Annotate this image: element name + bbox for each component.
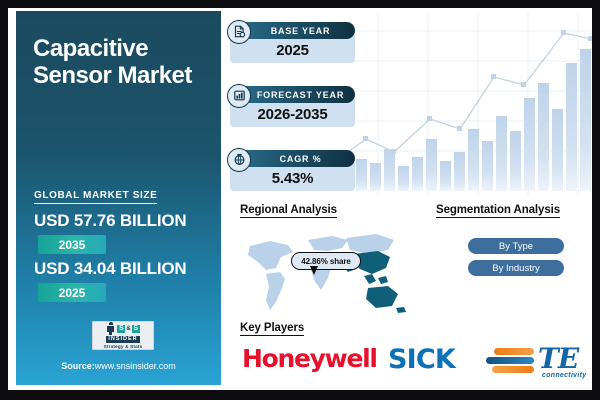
logo-tagline: Strategy & Stats [104,344,143,349]
global-market-size-label: GLOBAL MARKET SIZE [34,190,157,204]
analyst-figure-icon [106,322,115,335]
forecast-year-pill: FORECAST YEAR 2026-2035 [230,86,355,127]
market-size-base-year-chip: 2025 [38,283,106,302]
bar-chart-icon [227,84,251,108]
te-bars-icon [486,348,538,374]
cagr-pill-header: CAGR % [230,150,355,167]
segmentation-button-by-industry[interactable]: By Industry [468,260,564,276]
market-size-future-value: USD 57.76 BILLION [34,211,186,231]
market-size-future-year-chip: 2035 [38,235,106,254]
image-frame: Capacitive Sensor Market GLOBAL MARKET S… [0,0,600,400]
te-wordmark: TE [538,342,578,375]
te-subtitle: connectivity [542,372,586,379]
base-year-pill-header: BASE YEAR [230,22,355,39]
infographic-canvas: Capacitive Sensor Market GLOBAL MARKET S… [8,8,592,390]
key-players-heading: Key Players [240,322,304,336]
title-panel: Capacitive Sensor Market GLOBAL MARKET S… [16,11,221,385]
world-map: 42.86% share [236,224,416,316]
forecast-year-pill-label: FORECAST YEAR [257,90,344,100]
logo-ampersand: & [126,326,130,332]
source-url: www.snsinsider.com [95,361,176,371]
regional-analysis-heading: Regional Analysis [240,204,337,218]
market-size-base-value: USD 34.04 BILLION [34,259,186,279]
regional-share-callout: 42.86% share [291,252,361,270]
segmentation-button-by-type[interactable]: By Type [468,238,564,254]
logo-insider-text: INSIDER [106,336,139,343]
document-report-icon [227,20,251,44]
background-growth-chart [338,11,592,196]
key-player-logo-te-connectivity: TE connectivity [486,342,592,384]
logo-s-right: S [132,325,140,333]
forecast-year-pill-header: FORECAST YEAR [230,86,355,103]
title-line-2: Sensor Market [33,62,192,89]
title-line-1: Capacitive [33,35,148,62]
source-prefix: Source: [61,361,95,371]
logo-s-left: S [117,325,125,333]
base-year-pill: BASE YEAR 2025 [230,22,355,63]
segmentation-analysis-heading: Segmentation Analysis [436,204,560,218]
key-player-logo-sick: SICK [388,344,455,375]
key-player-logo-honeywell: Honeywell [242,344,377,373]
logo-ss-marks: S & S [117,325,139,333]
page-title: Capacitive Sensor Market [33,36,218,90]
cagr-pill: CAGR % 5.43% [230,150,355,191]
cagr-pill-label: CAGR % [280,154,322,164]
base-year-pill-label: BASE YEAR [271,26,331,36]
logo-row: S & S [106,322,139,335]
source-line: Source:www.snsinsider.com [16,361,221,371]
growth-globe-icon [227,148,251,172]
sns-insider-logo: S & S INSIDER Strategy & Stats [92,321,154,350]
